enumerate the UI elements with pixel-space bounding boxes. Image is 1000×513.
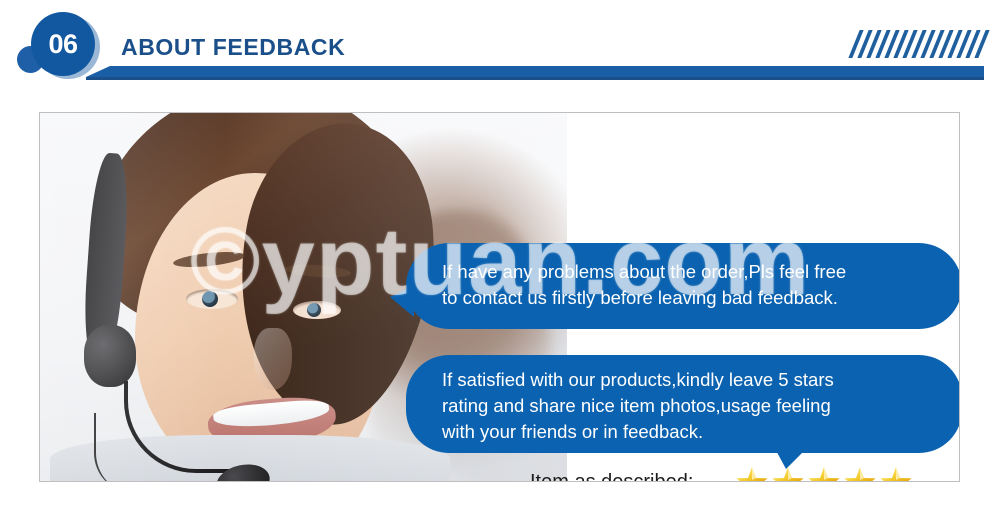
star-icon <box>843 465 877 482</box>
speech-bubble-problems: If have any problems about the order,Pls… <box>406 243 960 329</box>
content-panel: If have any problems about the order,Pls… <box>39 112 960 482</box>
rating-list: Item as described:Communication:Shipping… <box>530 461 913 482</box>
star-icon <box>771 465 805 482</box>
bubble-1-line-1: If have any problems about the order,Pls… <box>442 259 928 285</box>
section-number-label: 06 <box>48 31 77 58</box>
rating-label: Item as described: <box>530 471 735 483</box>
speech-bubble-satisfied: If satisfied with our products,kindly le… <box>406 355 960 453</box>
header-rule-taper <box>86 66 984 77</box>
page-header: 06 ABOUT FEEDBACK <box>0 0 1000 100</box>
bubble-2-line-1: If satisfied with our products,kindly le… <box>442 367 928 393</box>
header-rule-underline <box>86 77 984 80</box>
page-title: ABOUT FEEDBACK <box>121 34 345 61</box>
header-rule <box>86 66 984 80</box>
bubble-2-line-3: with your friends or in feedback. <box>442 419 928 445</box>
rating-row: Item as described: <box>530 461 913 482</box>
speech-bubble-tail-left-icon <box>390 285 414 317</box>
star-icon <box>735 465 769 482</box>
header-slash-decoration <box>854 30 984 60</box>
star-icon <box>807 465 841 482</box>
bubble-2-line-2: rating and share nice item photos,usage … <box>442 393 928 419</box>
star-rating <box>735 465 913 482</box>
bubble-1-line-2: to contact us firstly before leaving bad… <box>442 285 928 311</box>
star-icon <box>879 465 913 482</box>
